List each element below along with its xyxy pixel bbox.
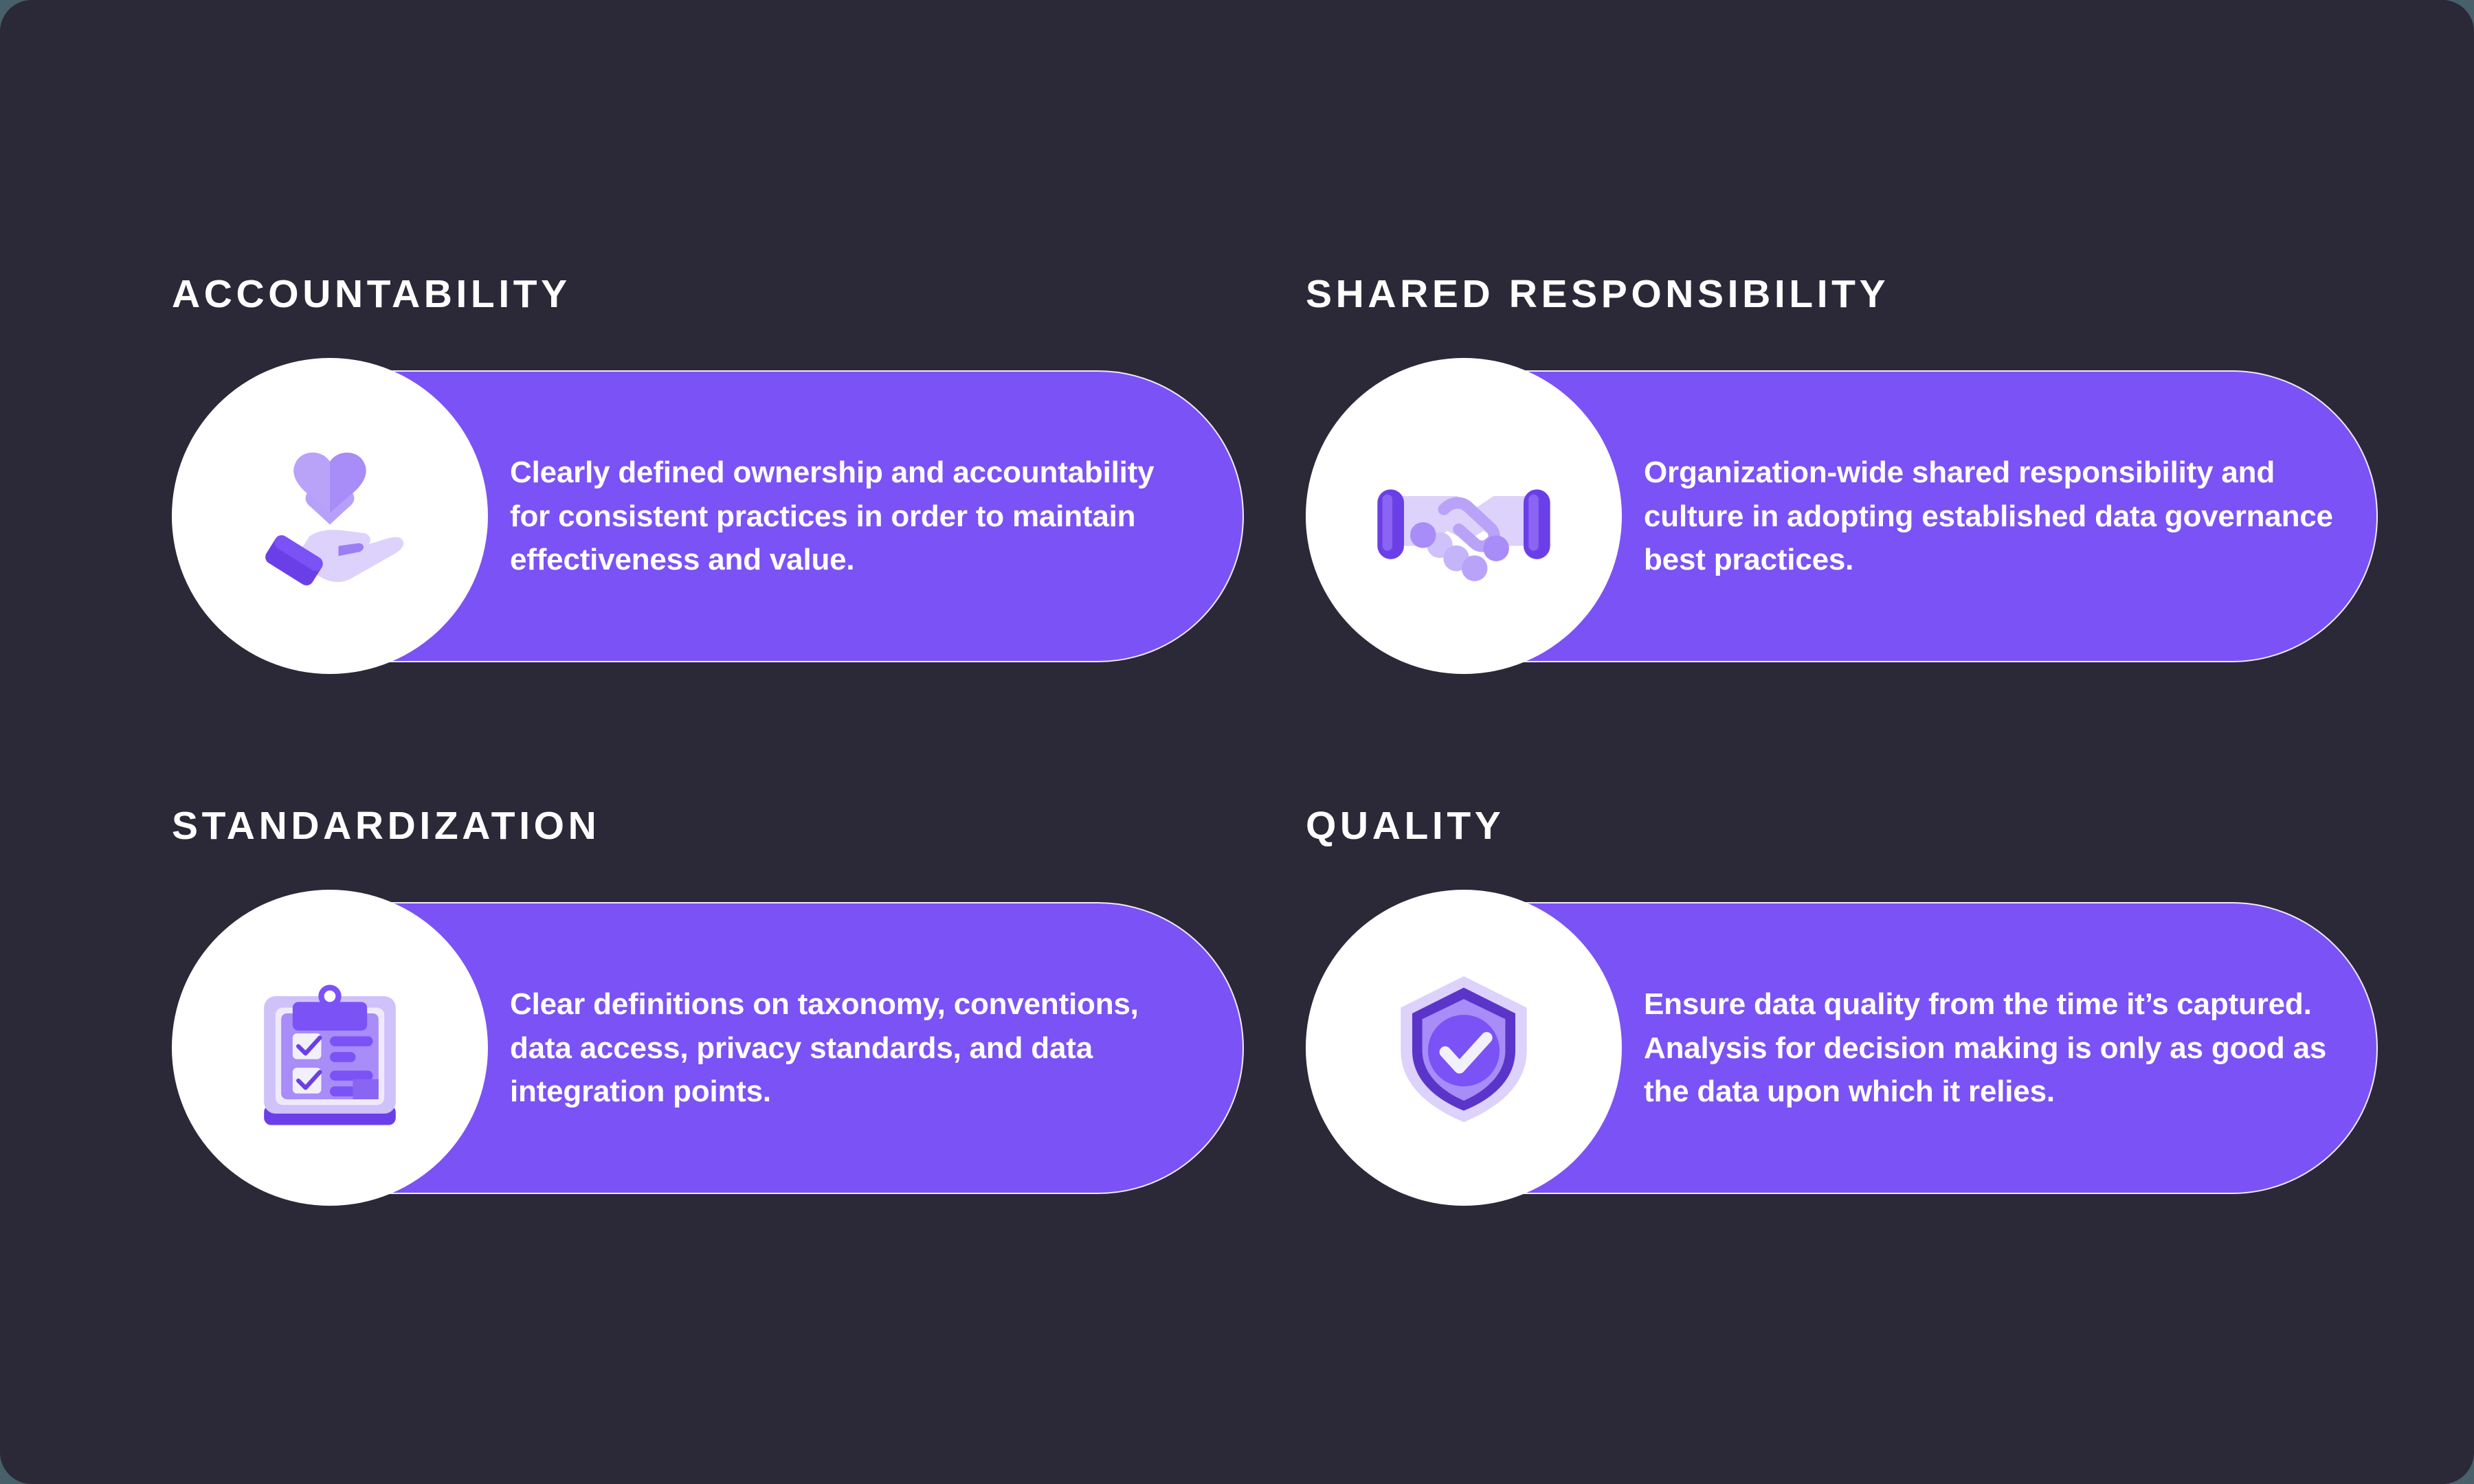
principle-card-shared-responsibility: SHARED RESPONSIBILITY Organization-wide … — [1306, 275, 2378, 662]
principle-card-quality: QUALITY Ensure data quality from the tim… — [1306, 807, 2378, 1194]
principles-grid: ACCOUNTABILITY Clearly defined ownership… — [172, 275, 2302, 1194]
card-body-pill: Ensure data quality from the time it’s c… — [1306, 902, 2378, 1194]
card-body-pill: Organization-wide shared responsibility … — [1306, 370, 2378, 662]
icon-badge — [1306, 358, 1622, 674]
card-description: Clearly defined ownership and accountabi… — [510, 451, 1201, 581]
infographic-panel: ACCOUNTABILITY Clearly defined ownership… — [0, 0, 2474, 1484]
card-body-pill: Clearly defined ownership and accountabi… — [172, 370, 1244, 662]
icon-badge — [1306, 890, 1622, 1206]
card-description: Organization-wide shared responsibility … — [1644, 451, 2335, 581]
card-heading: STANDARDIZATION — [172, 807, 1244, 846]
shield-check-icon — [1378, 962, 1550, 1134]
icon-badge — [172, 358, 488, 674]
card-body-pill: Clear definitions on taxonomy, conventio… — [172, 902, 1244, 1194]
card-heading: SHARED RESPONSIBILITY — [1306, 275, 2378, 314]
handshake-icon — [1364, 416, 1563, 616]
clipboard-checklist-icon — [244, 962, 416, 1134]
card-heading: ACCOUNTABILITY — [172, 275, 1244, 314]
heart-in-hand-icon — [244, 430, 416, 602]
card-description: Ensure data quality from the time it’s c… — [1644, 982, 2335, 1113]
principle-card-accountability: ACCOUNTABILITY Clearly defined ownership… — [172, 275, 1244, 662]
card-description: Clear definitions on taxonomy, conventio… — [510, 982, 1201, 1113]
card-heading: QUALITY — [1306, 807, 2378, 846]
icon-badge — [172, 890, 488, 1206]
principle-card-standardization: STANDARDIZATION Clear definitions on tax… — [172, 807, 1244, 1194]
